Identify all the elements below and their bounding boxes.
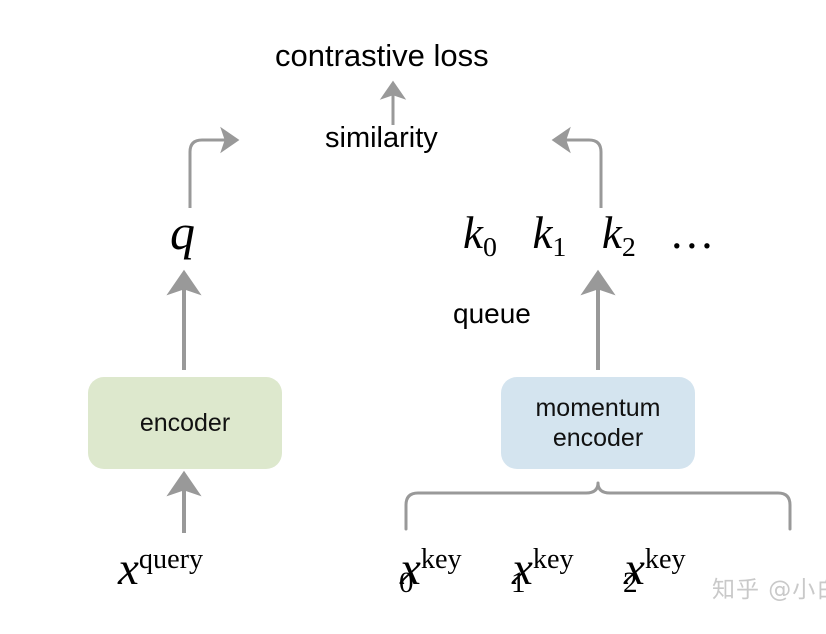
keys-ellipsis: … xyxy=(669,208,714,258)
key-symbols-group: k0 k1 k2 … xyxy=(463,207,714,264)
queue-label: queue xyxy=(453,298,531,330)
zhihu-watermark: 知乎 @小白 xyxy=(712,570,826,604)
contrastive-loss-label: contrastive loss xyxy=(275,38,489,74)
diagram-canvas: contrastive loss similarity queue q k0 k… xyxy=(0,0,826,634)
key-symbol-2: k2 xyxy=(602,208,636,258)
key-input-symbol-2: xkey2 xyxy=(624,542,638,600)
arrow-keys-to-similarity xyxy=(563,140,601,208)
momentum-encoder-box-label: momentum encoder xyxy=(535,393,660,454)
momentum-encoder-box[interactable]: momentum encoder xyxy=(501,377,695,469)
query-input-symbol: xquery xyxy=(118,542,203,596)
key-symbol-0: k0 xyxy=(463,208,497,258)
key-input-symbol-1: xkey1 xyxy=(512,542,526,600)
encoder-box-label: encoder xyxy=(140,408,230,439)
key-input-symbol-0: xkey0 xyxy=(400,542,414,600)
key-symbol-1: k1 xyxy=(532,208,566,258)
arrow-q-to-similarity xyxy=(190,140,228,208)
encoder-box[interactable]: encoder xyxy=(88,377,282,469)
connector-layer xyxy=(0,0,826,634)
similarity-label: similarity xyxy=(325,122,438,155)
query-feature-symbol: q xyxy=(170,203,195,261)
key-inputs-brace xyxy=(406,483,790,529)
